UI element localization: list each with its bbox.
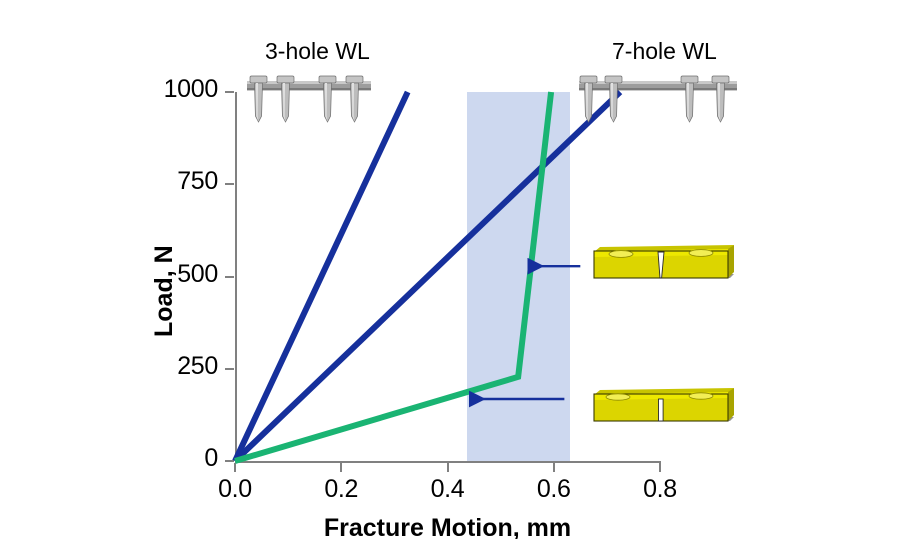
x-axis-tick-label: 0.8: [630, 475, 690, 504]
bone-plate-3hole-icon: [243, 72, 373, 134]
x-axis-tick-label: 0.4: [418, 475, 478, 504]
y-axis-tick-label: 750: [130, 167, 218, 196]
x-axis-tick: [553, 463, 555, 472]
y-axis-tick-label: 250: [130, 352, 218, 381]
x-axis-tick: [234, 463, 236, 472]
y-axis-tick: [225, 368, 234, 370]
bone-narrow-gap-icon: [588, 385, 736, 427]
label-7-hole-wl: 7-hole WL: [612, 38, 717, 65]
x-axis-tick: [447, 463, 449, 472]
x-axis-tick: [340, 463, 342, 472]
y-axis-tick-label: 1000: [130, 75, 218, 104]
label-3-hole-wl: 3-hole WL: [265, 38, 370, 65]
shaded-band-region: [467, 92, 570, 461]
bone-wedge-gap-icon: [588, 242, 736, 284]
x-axis-tick: [659, 463, 661, 472]
series-line: [235, 92, 408, 461]
y-axis-tick: [225, 183, 234, 185]
y-axis-tick: [225, 91, 234, 93]
chart-figure: 0.00.20.40.60.802505007501000 Fracture M…: [0, 0, 900, 539]
x-axis-tick-label: 0.0: [205, 475, 265, 504]
x-axis-tick-label: 0.2: [311, 475, 371, 504]
y-axis-title: Load, N: [150, 245, 179, 337]
y-axis-tick: [225, 460, 234, 462]
x-axis-title: Fracture Motion, mm: [293, 514, 603, 539]
y-axis-tick-label: 0: [130, 444, 218, 473]
x-axis-tick-label: 0.6: [524, 475, 584, 504]
y-axis-line: [235, 92, 237, 463]
y-axis-tick: [225, 276, 234, 278]
bone-plate-7hole-icon: [575, 72, 740, 134]
